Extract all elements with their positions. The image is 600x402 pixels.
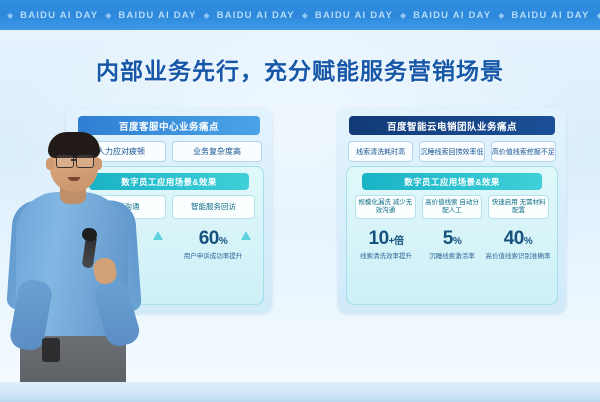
right-pain-points: 线索清洗耗时高 沉睡线索回捞效率低 高价值线索挖掘不足	[348, 141, 556, 162]
event-banner-marquee: ◆BAIDU AI DAY◆BAIDU AI DAY◆BAIDU AI DAY◆…	[0, 0, 600, 30]
left-pain-chip: 人力应对疲顿	[76, 141, 166, 162]
marquee-text: BAIDU AI DAY	[20, 10, 98, 21]
right-panel: 百度智能云电销团队业务痛点 线索清洗耗时高 沉睡线索回捞效率低 高价值线索挖掘不…	[338, 108, 566, 313]
marquee-separator-icon: ◆	[590, 11, 600, 20]
right-sub-title: 数字员工应用场景&效果	[362, 173, 542, 190]
right-stat: 40% 高价值线索识别准确率	[485, 229, 551, 261]
right-stat-row: 10+倍 线索清洗效率提升 5% 沉睡线索激活率 40% 高价值线索识别准确率	[353, 229, 551, 261]
left-stat: 60% 用户申诉成功率提升	[169, 229, 257, 261]
right-stat-value: 5%	[419, 229, 485, 250]
right-pain-chip: 高价值线索挖掘不足	[491, 141, 556, 162]
slide-headline: 内部业务先行，充分赋能服务营销场景	[0, 52, 600, 86]
marquee-text: BAIDU AI DAY	[315, 10, 393, 21]
right-stat-value: 10+倍	[353, 229, 419, 250]
arrow-up-icon	[153, 231, 163, 240]
right-scene-chip: 规模化漏洗 减少无效沟通	[355, 195, 416, 219]
right-pain-chip: 沉睡线索回捞效率低	[419, 141, 484, 162]
right-sub-card: 数字员工应用场景&效果 规模化漏洗 减少无效沟通 高价值线索 自动分配人工 快速…	[346, 166, 558, 305]
left-panel: 百度客服中心业务痛点 人力应对疲顿 业务复杂度高 数字员工应用场景&效果 分流沟…	[66, 108, 272, 313]
right-stat-label: 线索清洗效率提升	[353, 253, 419, 261]
marquee-text: BAIDU AI DAY	[118, 10, 196, 21]
right-stat: 10+倍 线索清洗效率提升	[353, 229, 419, 261]
marquee-separator-icon: ◆	[0, 11, 20, 20]
marquee-separator-icon: ◆	[491, 11, 511, 20]
arrow-up-icon	[241, 231, 251, 240]
marquee-separator-icon: ◆	[295, 11, 315, 20]
left-pain-points: 人力应对疲顿 业务复杂度高	[76, 141, 262, 162]
right-scene-chip: 高价值线索 自动分配人工	[422, 195, 483, 219]
right-scene-row: 规模化漏洗 减少无效沟通 高价值线索 自动分配人工 快速启用 无需材料配置	[355, 195, 549, 219]
left-scene-chip: 分流沟通	[83, 195, 166, 219]
left-pain-chip: 业务复杂度高	[172, 141, 262, 162]
right-stat-label: 沉睡线索激活率	[419, 253, 485, 261]
stage-floor	[0, 382, 600, 402]
left-panel-title: 百度客服中心业务痛点	[78, 116, 260, 135]
left-stat-label: 用户申诉成功率提升	[169, 253, 257, 261]
marquee-separator-icon: ◆	[393, 11, 413, 20]
right-stat: 5% 沉睡线索激活率	[419, 229, 485, 261]
marquee-text: BAIDU AI DAY	[511, 10, 589, 21]
right-pain-chip: 线索清洗耗时高	[348, 141, 413, 162]
left-sub-card: 数字员工应用场景&效果 分流沟通 智能服务回访 效提升 60% 用户申诉成功率提…	[74, 166, 264, 305]
right-stat-value: 40%	[485, 229, 551, 250]
left-sub-title: 数字员工应用场景&效果	[89, 173, 249, 190]
marquee-text: BAIDU AI DAY	[413, 10, 491, 21]
led-screen: 内部业务先行，充分赋能服务营销场景 百度客服中心业务痛点 人力应对疲顿 业务复杂…	[0, 30, 600, 382]
right-stat-label: 高价值线索识别准确率	[485, 253, 551, 261]
left-scene-row: 分流沟通 智能服务回访	[83, 195, 255, 219]
right-panel-title: 百度智能云电销团队业务痛点	[349, 116, 555, 135]
left-stat: 效提升	[81, 229, 169, 261]
right-scene-chip: 快速启用 无需材料配置	[488, 195, 549, 219]
marquee-separator-icon: ◆	[98, 11, 118, 20]
marquee-separator-icon: ◆	[197, 11, 217, 20]
presentation-photo: ◆BAIDU AI DAY◆BAIDU AI DAY◆BAIDU AI DAY◆…	[0, 0, 600, 402]
left-stat-row: 效提升 60% 用户申诉成功率提升	[81, 229, 257, 261]
marquee-text: BAIDU AI DAY	[217, 10, 295, 21]
left-scene-chip: 智能服务回访	[172, 195, 255, 219]
